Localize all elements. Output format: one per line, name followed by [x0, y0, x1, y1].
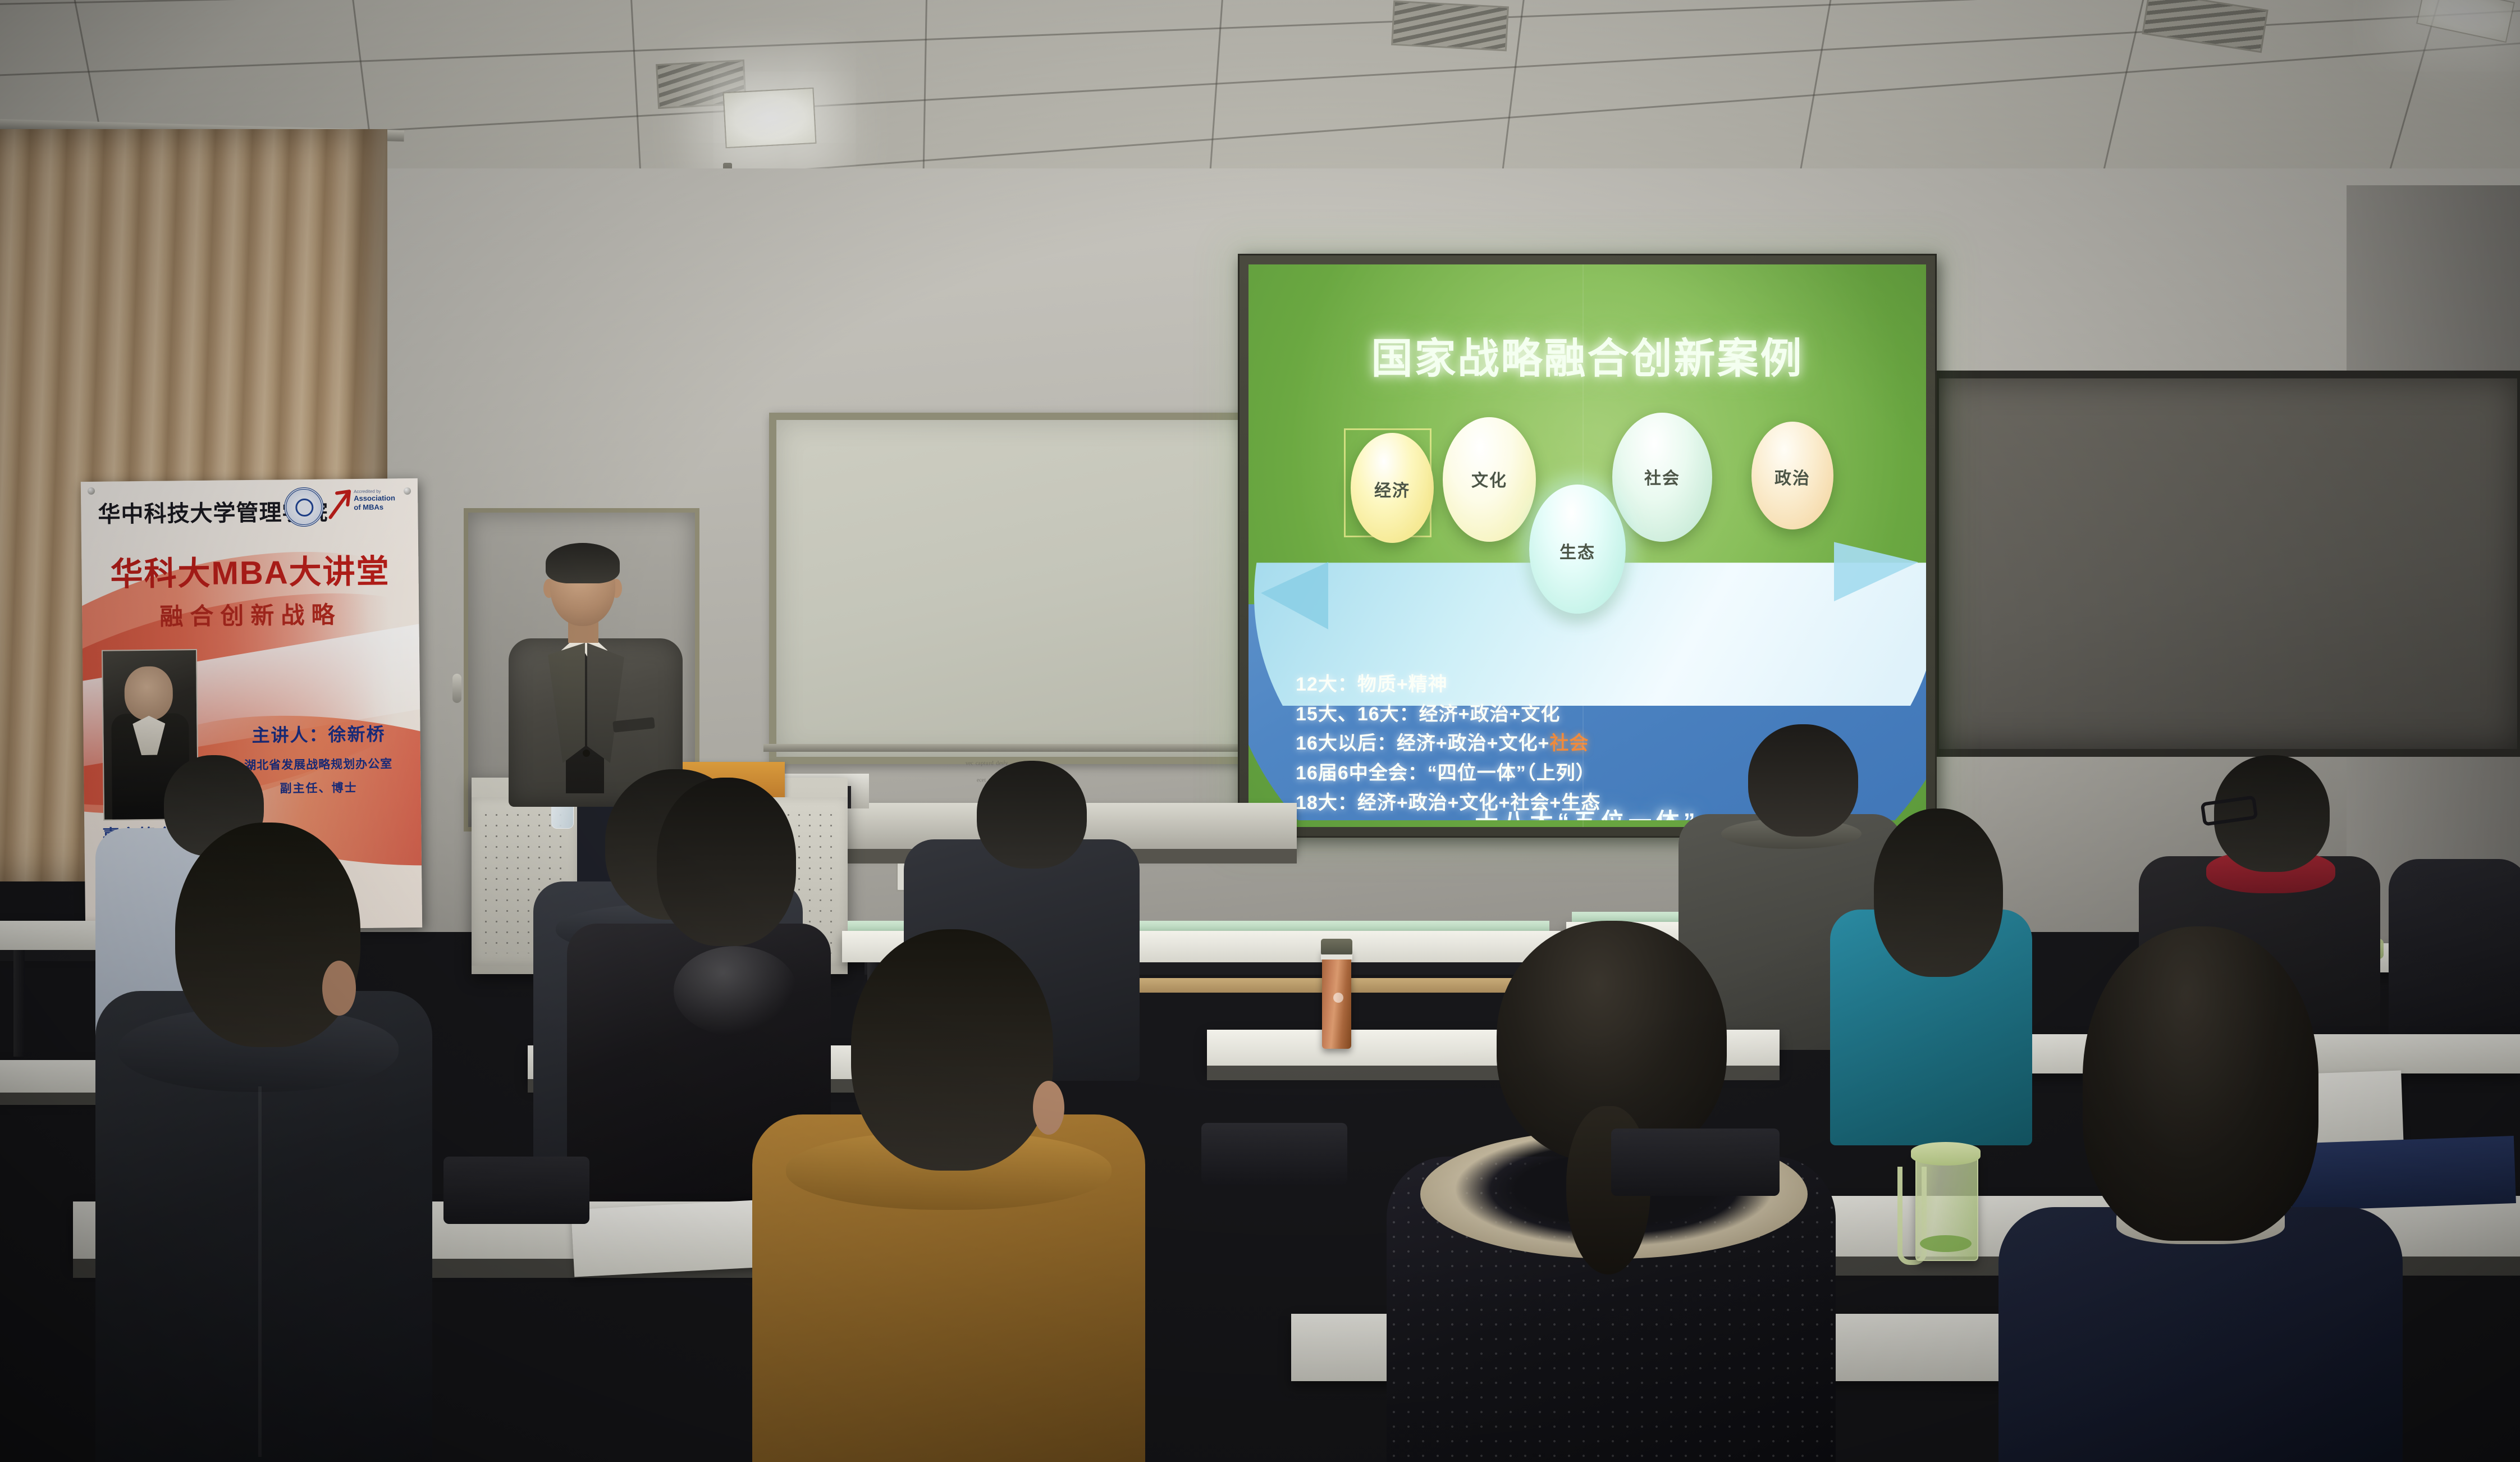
air-vent-diffuser	[1391, 1, 1509, 52]
coat-seam	[258, 1086, 262, 1457]
slide-bubble-economy: 经济	[1351, 433, 1434, 543]
whiteboard-left	[769, 413, 1272, 764]
poster-pin	[88, 487, 95, 495]
door-handle[interactable]	[452, 674, 461, 703]
person-ear	[322, 961, 356, 1016]
leather-shoulder-sheen	[674, 946, 797, 1036]
slide-bubble-politics: 政治	[1751, 422, 1833, 529]
classroom-photo-scene: ᵛᵉᶜ ᶜᵃᵖᵗᵘʳᵈ ᵈᵉˢⁱᵛ ᵉᶜᵉᵗ ᵗᵒᶜᵏ 华中科技大学管理学院 A…	[0, 0, 2520, 1462]
poster-subheadline: 融合创新战略	[82, 595, 419, 633]
slide-bullet-list: 12大：物质+精神 15大、16大：经济+政治+文化 16大以后：经济+政治+文…	[1296, 670, 1600, 817]
person-ear	[1033, 1081, 1064, 1135]
amba-accreditation-text: Accredited by Association of MBAs	[354, 488, 412, 511]
paper-sheet[interactable]	[571, 1200, 760, 1277]
slide-bubble-culture: 文化	[1443, 417, 1536, 542]
poster-headline: 华科大MBA大讲堂	[81, 545, 419, 595]
ceiling-light-fixture	[722, 88, 816, 148]
whiteboard-right	[1931, 371, 2520, 757]
thermos-logo	[1333, 993, 1343, 1003]
slide-bullet-line: 12大：物质+精神	[1296, 670, 1600, 700]
person-head	[1748, 724, 1858, 837]
whiteboard-marker-tray	[763, 744, 1263, 752]
person-head	[977, 761, 1087, 869]
person-head	[851, 929, 1053, 1171]
bottle-base	[1920, 1235, 1972, 1252]
slide-bullet-line: 16届6中全会：“四位一体”（上列）	[1296, 759, 1600, 788]
desk-leg	[13, 950, 25, 1057]
slide-bullet-line: 18大：经济+政治+文化+社会+生态	[1296, 788, 1600, 818]
chair-back	[1201, 1123, 1347, 1185]
slide-bubble-society: 社会	[1612, 413, 1712, 542]
slide-bubble-ecology: 生态	[1529, 485, 1626, 614]
ceiling-light-fixture	[2416, 0, 2515, 43]
thermos-cap	[1321, 939, 1352, 956]
chair-back	[1611, 1129, 1780, 1196]
person-head	[657, 778, 796, 946]
person-torso	[2389, 859, 2520, 1044]
poster-speaker-name: 主讲人：徐新桥	[220, 720, 417, 748]
slide-title: 国家战略融合创新案例	[1248, 325, 1926, 385]
blue-folder[interactable]	[2289, 1136, 2516, 1211]
speaker-hair	[546, 543, 620, 583]
university-seal-icon	[284, 487, 324, 527]
slide-bullet-line: 16大以后：经济+政治+文化+社会	[1296, 729, 1600, 759]
person-head	[1874, 808, 2003, 977]
air-vent-diffuser	[2142, 0, 2269, 53]
thermos-ring	[1321, 954, 1352, 960]
speaker-jacket-button	[583, 750, 590, 757]
person-head	[2083, 926, 2318, 1241]
bottle-cap	[1911, 1142, 1981, 1166]
amba-arrow-icon	[327, 488, 353, 519]
slide-bullet-line: 15大、16大：经济+政治+文化	[1296, 700, 1600, 729]
person-torso	[1998, 1207, 2403, 1462]
chair-back	[443, 1157, 589, 1224]
